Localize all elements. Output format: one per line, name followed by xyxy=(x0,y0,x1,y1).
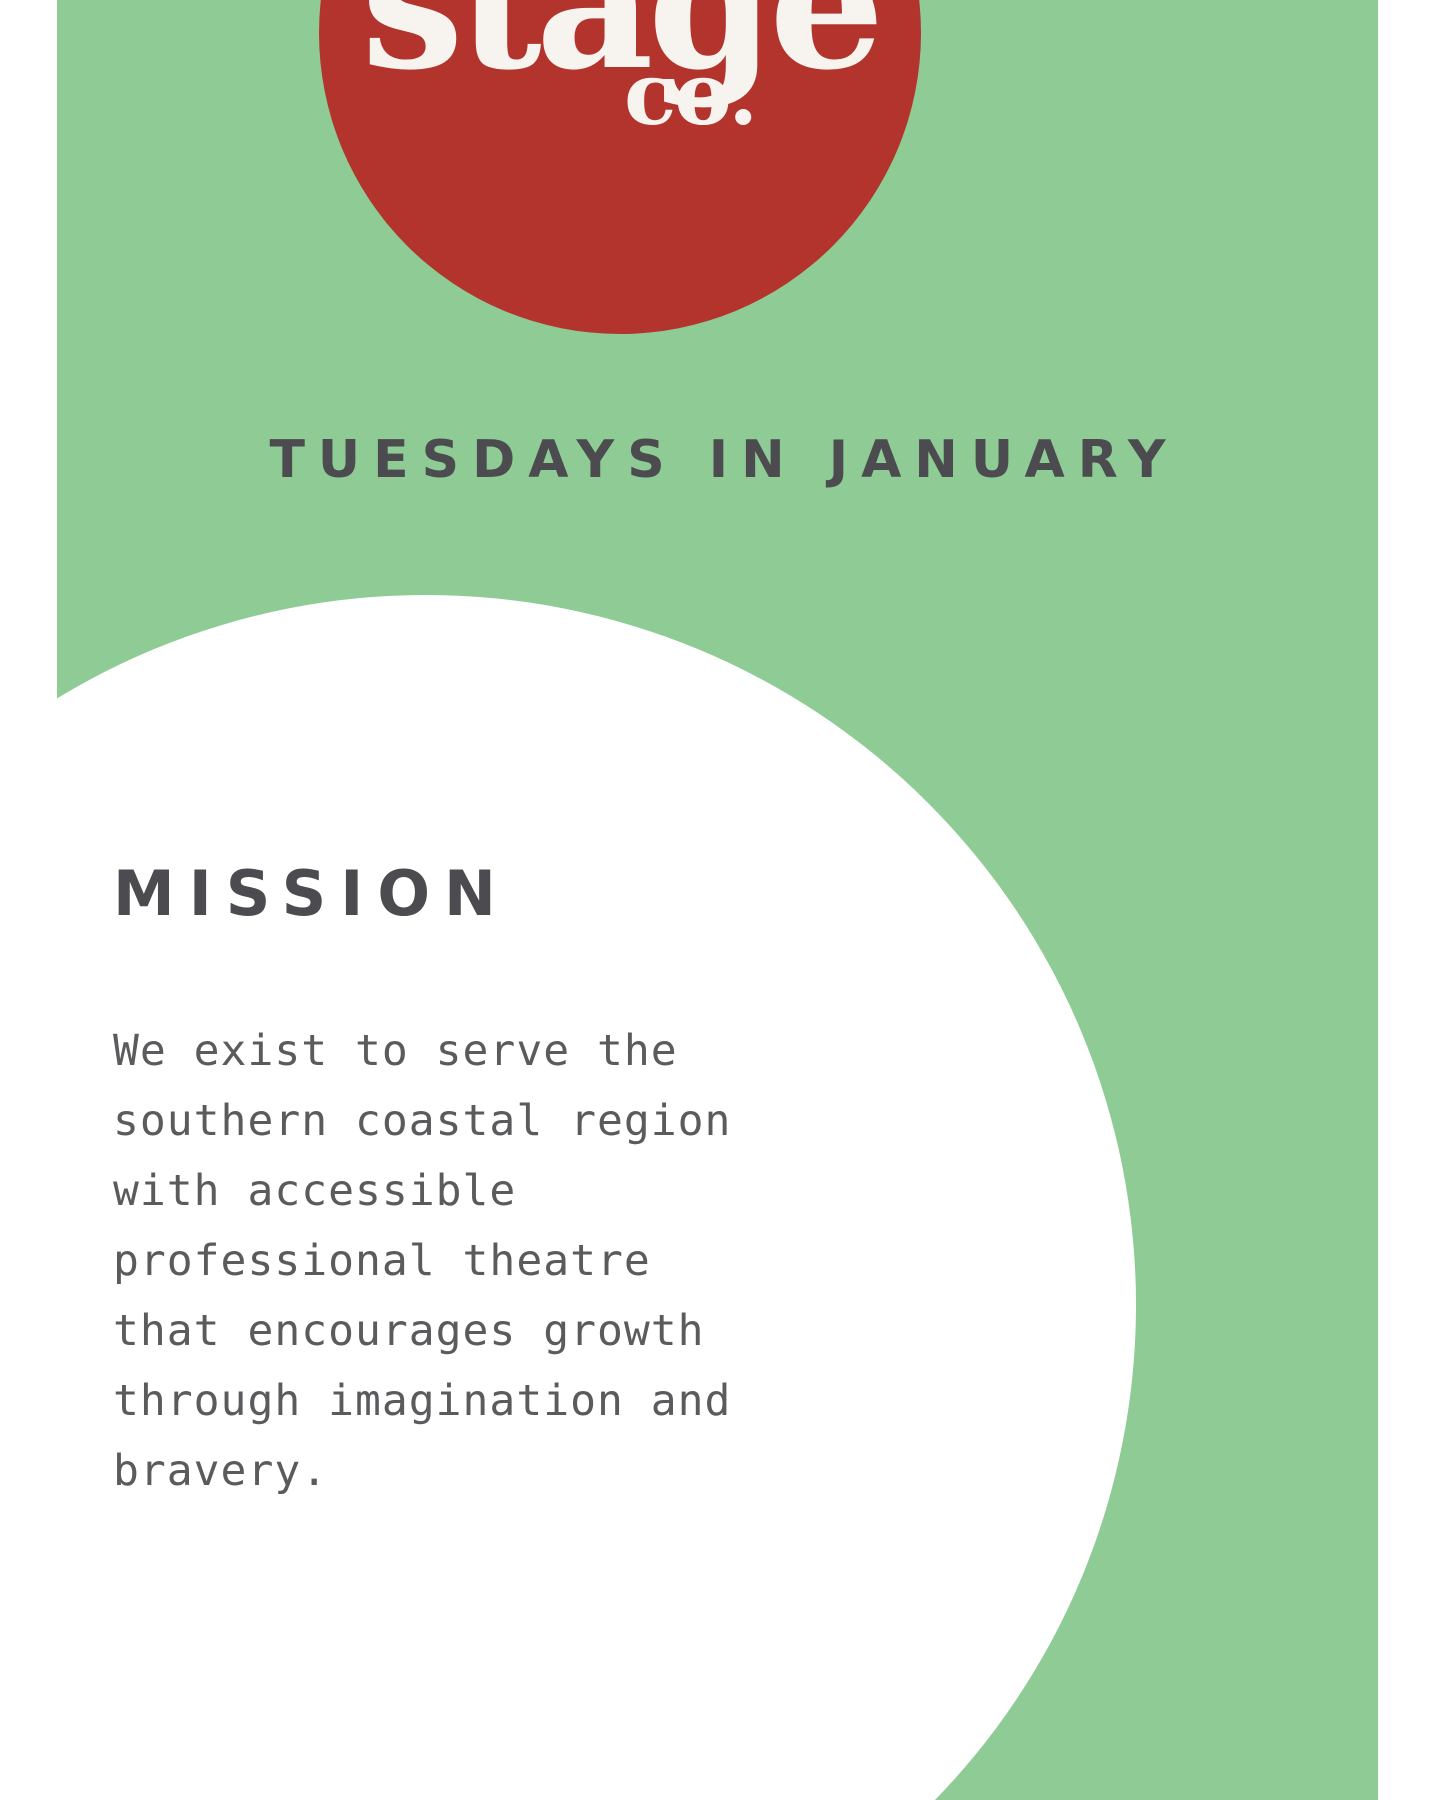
mission-body-text: We exist to serve the southern coastal r… xyxy=(113,1016,873,1506)
date-line-heading: TUESDAYS IN JANUARY xyxy=(57,425,1378,495)
logo-suffix-text: co. xyxy=(624,52,756,138)
mission-heading: MISSION xyxy=(113,858,873,930)
logo-wordmark-text: stage xyxy=(319,0,921,78)
mission-section: MISSION We exist to serve the southern c… xyxy=(113,858,873,1506)
poster-canvas: stage co. TUESDAYS IN JANUARY MISSION We… xyxy=(0,0,1440,1800)
